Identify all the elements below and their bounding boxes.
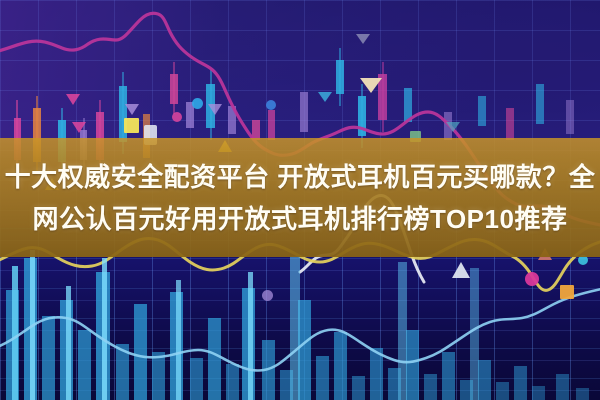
marker-triangle-down-pink-2	[72, 122, 86, 133]
marker-triangle-down-pink	[66, 94, 80, 105]
marker-circle-pink	[172, 112, 182, 122]
marker-circle-blue	[266, 100, 276, 110]
marker-triangle-down-cyan	[318, 92, 332, 102]
marker-circle-violet	[262, 290, 273, 301]
marker-triangle-down-violet-2	[208, 104, 222, 115]
headline-block: 十大权威安全配资平台 开放式耳机百元买哪款？全 网公认百元好用开放式耳机排行榜T…	[0, 150, 600, 246]
marker-triangle-down-teal	[446, 122, 460, 132]
headline-line-2: 网公认百元好用开放式耳机排行榜TOP10推荐	[33, 199, 568, 239]
banner-image: 十大权威安全配资平台 开放式耳机百元买哪款？全 网公认百元好用开放式耳机排行榜T…	[0, 0, 600, 400]
marker-square-yellow	[124, 118, 139, 133]
headline-line-1: 十大权威安全配资平台 开放式耳机百元买哪款？全	[5, 157, 596, 197]
marker-circle-magenta	[525, 272, 539, 286]
marker-square-orange	[560, 285, 574, 299]
marker-triangle-up-white	[452, 262, 470, 278]
marker-triangle-down-gray	[356, 34, 370, 44]
marker-triangle-down-cream	[360, 78, 382, 93]
marker-circle-cyan	[192, 98, 203, 109]
marker-triangle-down-violet	[125, 104, 139, 115]
